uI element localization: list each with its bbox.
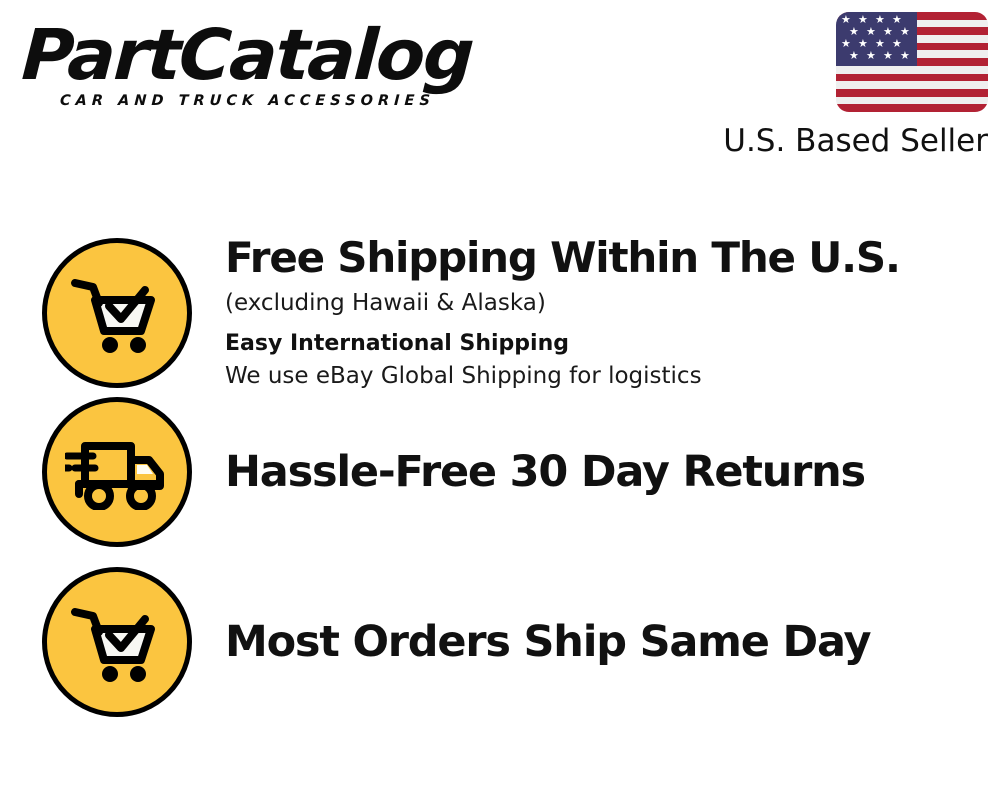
shopping-cart-check-icon [42,567,192,717]
shopping-cart-check-icon [42,238,192,388]
us-based-seller-badge: ★ ★ ★ ★ ★ ★ ★ ★ ★ ★ ★ ★ ★ ★ ★ ★ U.S. Bas… [718,12,988,161]
brand-wordmark: PartCatalog [20,18,503,92]
feature-row: Hassle-Free 30 Day Returns [0,397,1000,547]
feature-text: Free Shipping Within The U.S. (excluding… [225,233,1000,392]
flag-stripe [836,81,988,89]
flag-stripe [836,66,988,74]
feature-row: Free Shipping Within The U.S. (excluding… [0,225,1000,400]
feature-text: Most Orders Ship Same Day [225,617,1000,667]
feature-sub-light: We use eBay Global Shipping for logistic… [225,361,980,392]
flag-stripe [836,74,988,82]
feature-subtitle: (excluding Hawaii & Alaska) [225,287,980,319]
flag-stripe [836,89,988,97]
flag-stripe [836,97,988,105]
flag-canton: ★ ★ ★ ★ ★ ★ ★ ★ ★ ★ ★ ★ ★ ★ ★ ★ [836,12,917,66]
feature-sub-strong: Easy International Shipping [225,329,980,359]
feature-text: Hassle-Free 30 Day Returns [225,447,1000,497]
partcatalog-logo: PartCatalog CAR AND TRUCK ACCESSORIES [22,18,492,109]
delivery-truck-icon [42,397,192,547]
feature-row: Most Orders Ship Same Day [0,567,1000,717]
brand-tagline: CAR AND TRUCK ACCESSORIES [60,93,493,109]
us-flag-icon: ★ ★ ★ ★ ★ ★ ★ ★ ★ ★ ★ ★ ★ ★ ★ ★ [836,12,988,112]
feature-title: Hassle-Free 30 Day Returns [225,447,980,497]
feature-title: Most Orders Ship Same Day [225,617,980,667]
flag-stripe [836,104,988,112]
seller-badge-label: U.S. Based Seller [718,121,988,161]
banner-header: PartCatalog CAR AND TRUCK ACCESSORIES ★ … [0,0,1000,175]
feature-title: Free Shipping Within The U.S. [225,233,980,283]
